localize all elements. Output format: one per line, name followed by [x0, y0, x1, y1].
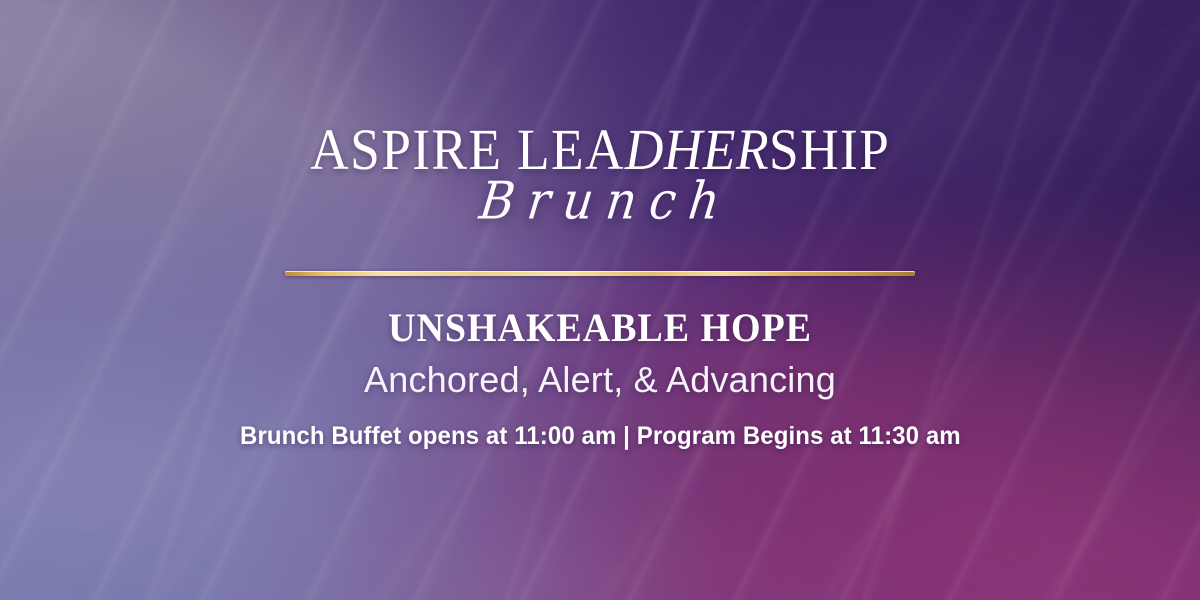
event-schedule-line: Brunch Buffet opens at 11:00 am | Progra…: [240, 423, 961, 451]
event-tagline: Anchored, Alert, & Advancing: [364, 361, 836, 399]
banner-content: ASPIRE LEADHERSHIP Brunch UNSHAKEABLE HO…: [0, 0, 1200, 600]
event-title-trail: SHIP: [769, 117, 890, 182]
event-banner: ASPIRE LEADHERSHIP Brunch UNSHAKEABLE HO…: [0, 0, 1200, 600]
event-script-word: Brunch: [464, 174, 736, 230]
gold-divider: [285, 271, 915, 276]
event-theme-headline: UNSHAKEABLE HOPE: [388, 308, 812, 348]
